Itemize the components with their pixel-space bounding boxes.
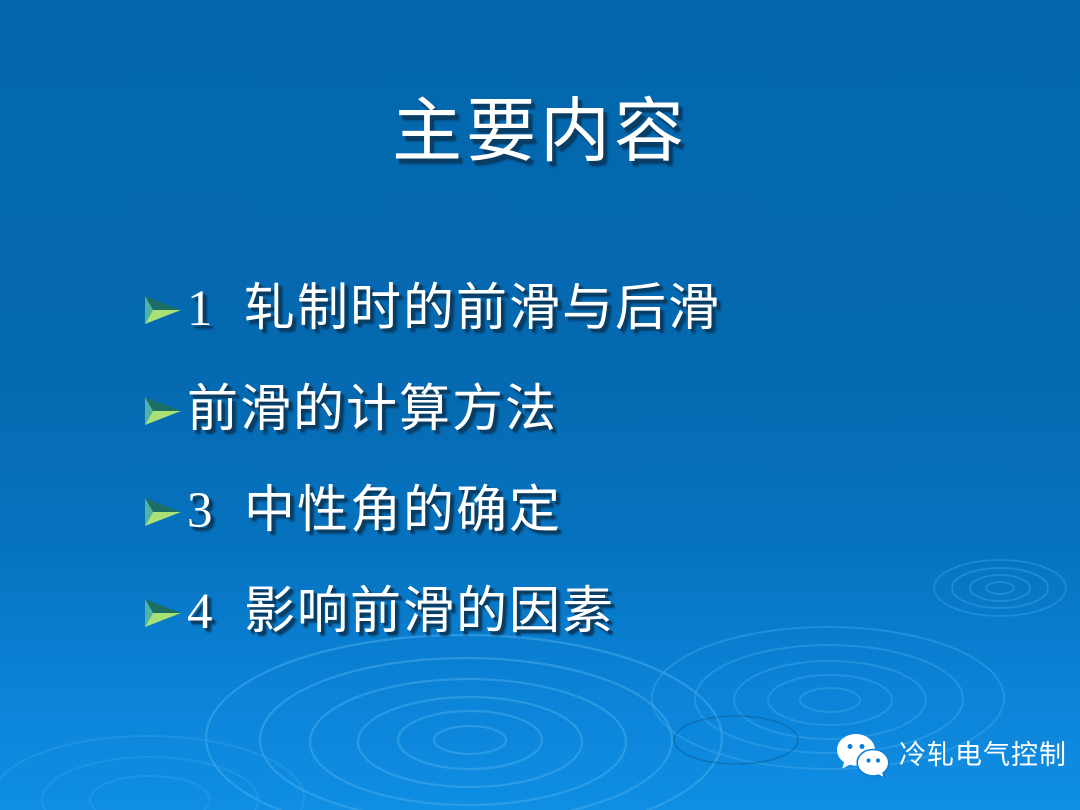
list-item-label: 3 中性角的确定 [187,481,1003,541]
list-item-label: 前滑的计算方法 [187,380,1003,440]
green-arrow-bullet-icon [143,495,183,529]
slide-title: 主要内容 [0,92,1080,174]
green-arrow-bullet-icon [143,596,183,630]
green-arrow-bullet-icon [143,394,183,428]
list-item-label: 1 轧制时的前滑与后滑 [187,279,1003,339]
bullet-list: 1 轧制时的前滑与后滑 前滑的计算方法 3 中性角的确定 [143,258,1003,662]
watermark-label: 冷轧电气控制 [899,740,1067,770]
list-item[interactable]: 1 轧制时的前滑与后滑 [143,258,1003,359]
list-item[interactable]: 4 影响前滑的因素 [143,561,1003,662]
list-item[interactable]: 3 中性角的确定 [143,460,1003,561]
presentation-slide: 主要内容 1 轧制时的前滑与后滑 前滑的计算方法 [0,0,1080,810]
wechat-logo-icon [836,732,890,778]
green-arrow-bullet-icon [143,293,183,327]
list-item-label: 4 影响前滑的因素 [187,582,1003,642]
list-item[interactable]: 前滑的计算方法 [143,359,1003,460]
watermark: 冷轧电气控制 [836,732,1067,778]
